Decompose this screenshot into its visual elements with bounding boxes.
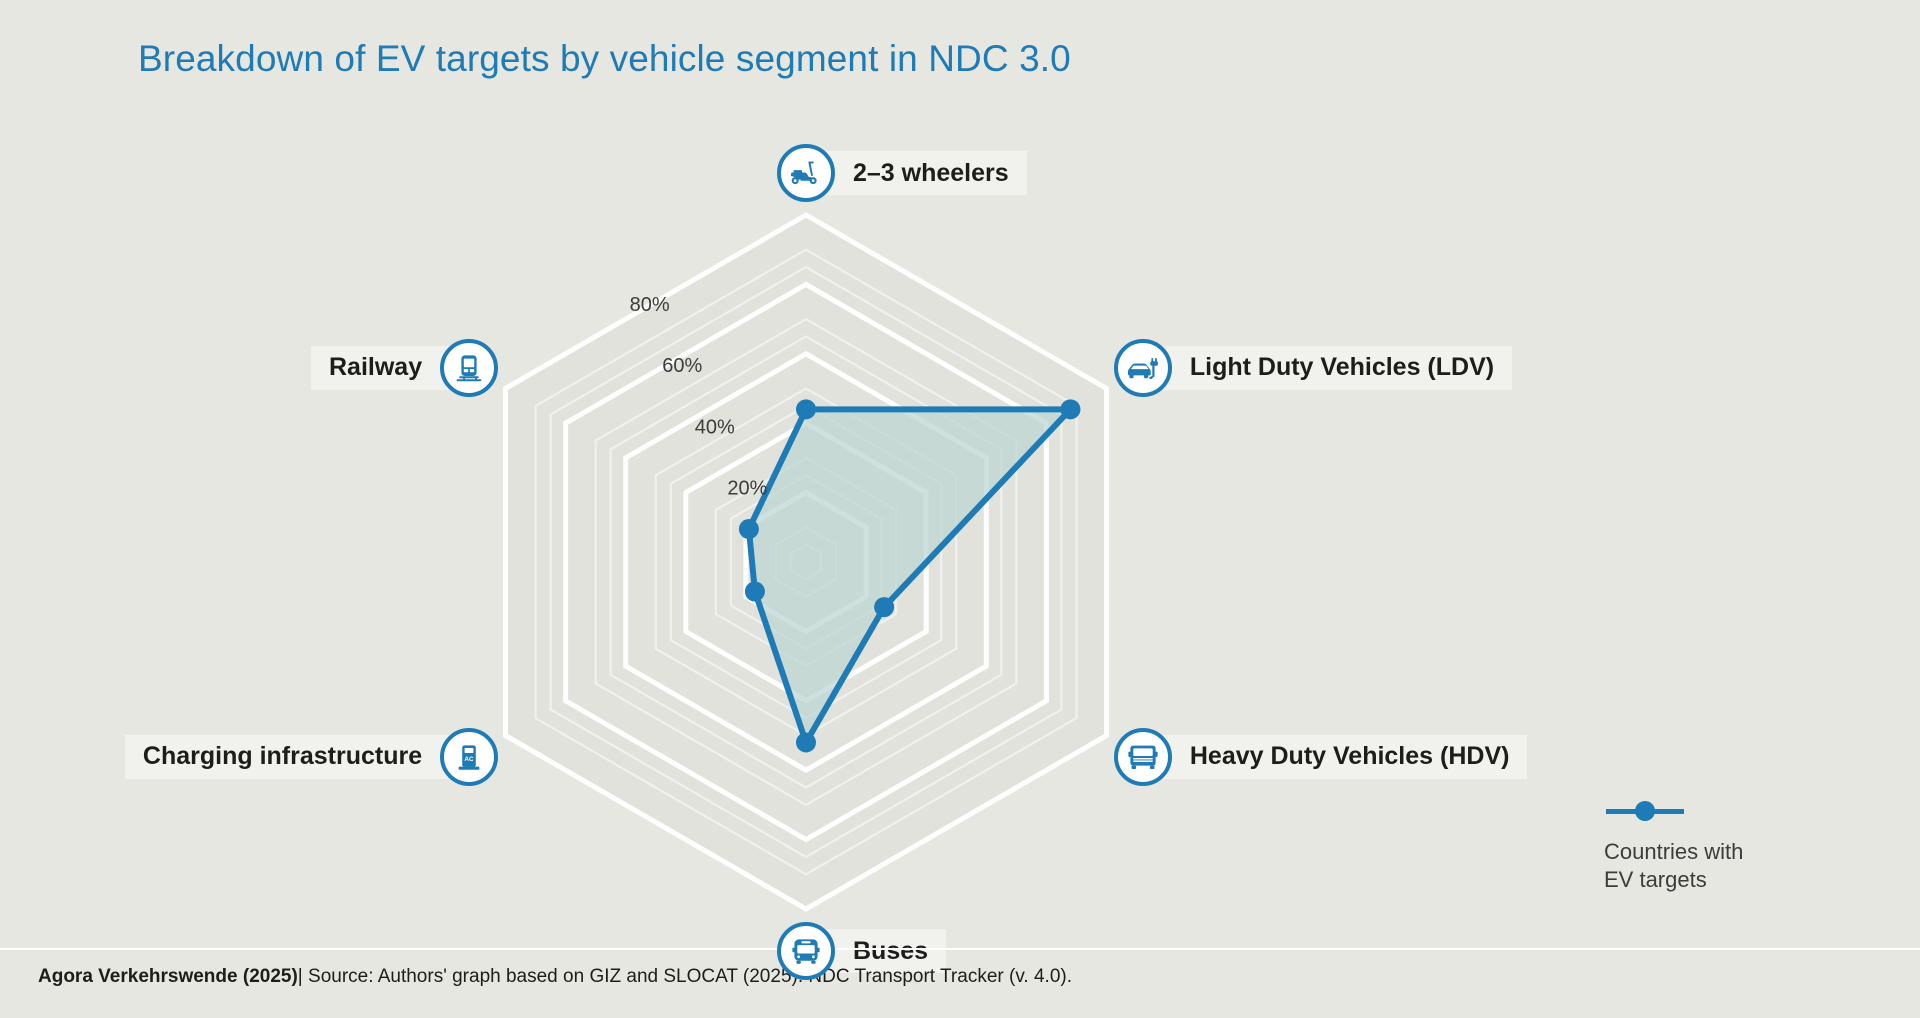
footer-source: Agora Verkehrswende (2025)| Source: Auth… [38,966,1072,988]
legend: Countries with EV targets [1604,800,1834,894]
radial-tick-label: 40% [695,416,735,438]
series-data-point[interactable]: Railway: 19% [739,519,759,539]
footer-publisher: Agora Verkehrswende (2025) [38,966,298,987]
car-charging-icon [1114,339,1172,397]
axis-label-railway[interactable]: Railway [311,339,498,397]
train-icon [440,339,498,397]
series-data-point[interactable]: Light Duty Vehicles (LDV): 88% [1060,399,1080,419]
axis-label-text: 2–3 wheelers [819,151,1027,195]
footer-separator: | [298,966,303,987]
series-data-point[interactable]: 2–3 wheelers: 44% [796,399,816,419]
footer-divider [0,948,1920,950]
radial-tick-label: 80% [630,294,670,316]
bus-icon [777,922,835,980]
axis-label-text: Light Duty Vehicles (LDV) [1156,346,1512,390]
legend-label-line2: EV targets [1604,866,1834,894]
axis-label-ldv[interactable]: Light Duty Vehicles (LDV) [1114,339,1512,397]
footer-source-text: Source: Authors' graph based on GIZ and … [308,966,1072,987]
axis-label-hdv[interactable]: Heavy Duty Vehicles (HDV) [1114,728,1528,786]
radar-chart: 2–3 wheelers: 44%Light Duty Vehicles (LD… [0,0,1920,940]
legend-label-line1: Countries with [1604,838,1834,866]
legend-line-marker-icon [1606,800,1684,822]
radial-tick-label: 20% [727,478,767,500]
truck-icon [1114,728,1172,786]
radial-tick-label: 60% [662,355,702,377]
infographic-root: Breakdown of EV targets by vehicle segme… [0,0,1920,1018]
axis-label-text: Charging infrastructure [125,735,456,779]
legend-label: Countries with EV targets [1604,838,1834,894]
axis-label-text: Railway [311,346,456,390]
series-data-point[interactable]: Buses: 52% [796,732,816,752]
axis-label-text: Heavy Duty Vehicles (HDV) [1156,735,1528,779]
radar-svg: 2–3 wheelers: 44%Light Duty Vehicles (LD… [0,0,1920,940]
svg-text:AC: AC [464,755,474,762]
axis-label-charging-infrastructure[interactable]: AC Charging infrastructure [125,728,498,786]
scooter-icon [777,144,835,202]
series-data-point[interactable]: Charging infrastructure: 17% [745,582,765,602]
series-data-point[interactable]: Heavy Duty Vehicles (HDV): 26% [874,597,894,617]
legend-dot [1635,801,1655,821]
charging-station-icon: AC [440,728,498,786]
axis-label-two-three-wheelers[interactable]: 2–3 wheelers [777,144,1027,202]
